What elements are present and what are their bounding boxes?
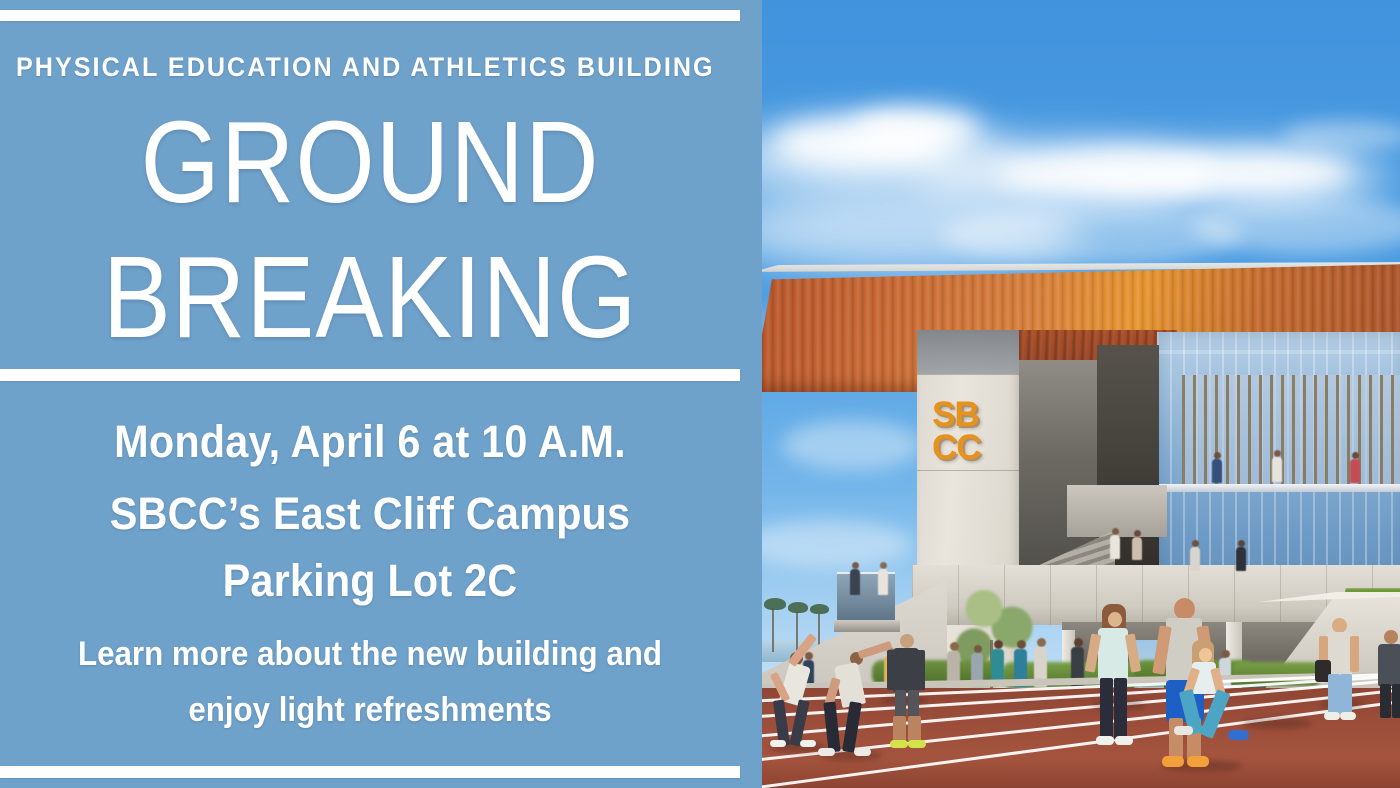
person-figure — [878, 569, 888, 595]
person-figure — [1272, 457, 1282, 482]
kicker-text: PHYSICAL EDUCATION AND ATHLETICS BUILDIN… — [16, 52, 686, 82]
person-figure — [1212, 459, 1222, 483]
person-head — [1274, 450, 1281, 457]
palm-fronds — [788, 602, 808, 613]
balcony-rail-upper — [1157, 484, 1400, 492]
person-head — [1222, 650, 1230, 658]
person-head — [1214, 452, 1221, 459]
cloud-shape — [1282, 120, 1400, 150]
headline-line-1: GROUND — [44, 104, 695, 220]
palm-fronds — [810, 604, 829, 614]
divider-middle — [0, 369, 740, 381]
person-head — [974, 645, 982, 653]
cloud-shape — [782, 420, 922, 470]
person-figure — [1132, 537, 1142, 560]
person-shadow — [1242, 718, 1312, 729]
divider-bottom — [0, 766, 740, 778]
person-head — [1238, 540, 1245, 547]
person-head — [852, 562, 859, 569]
person-head — [950, 642, 959, 651]
person-head — [1112, 528, 1119, 535]
palm-fronds — [764, 598, 786, 610]
headline-line-2: BREAKING — [44, 239, 695, 355]
person-figure — [1236, 547, 1246, 571]
person-head — [1037, 638, 1046, 647]
glass-band — [1157, 350, 1400, 354]
event-location-campus: SBCC’s East Cliff Campus — [30, 490, 711, 538]
divider-top — [0, 10, 740, 21]
person-figure — [1190, 547, 1200, 571]
subtext-line-1: Learn more about the new building and — [30, 636, 711, 672]
balcony-deck — [834, 620, 900, 632]
person-head — [880, 562, 887, 569]
sbcc-logo-text: SBCC — [932, 398, 1002, 464]
text-panel: PHYSICAL EDUCATION AND ATHLETICS BUILDIN… — [0, 0, 762, 788]
person-figure — [850, 569, 860, 595]
person-figure — [1110, 535, 1120, 559]
person-head — [1074, 638, 1083, 647]
person-figure — [1350, 459, 1360, 483]
person-head — [994, 640, 1003, 649]
cloud-shape — [942, 205, 1242, 265]
person-head — [805, 652, 813, 660]
subtext-line-2: enjoy light refreshments — [30, 692, 711, 728]
person-head — [1192, 540, 1199, 547]
person-head — [1352, 452, 1359, 459]
person-head — [1017, 640, 1026, 649]
building-rendering-photo: SBCC — [762, 0, 1400, 788]
palm-trunk — [772, 608, 774, 652]
concrete-pier-top — [917, 330, 1019, 374]
person-head — [1134, 530, 1141, 537]
cloud-shape — [852, 108, 982, 152]
cloud-shape — [1162, 152, 1352, 194]
cloud-shape — [762, 520, 912, 568]
palm-trunk — [796, 612, 798, 652]
panel-seam — [917, 374, 1019, 375]
event-date-time: Monday, April 6 at 10 A.M. — [30, 418, 711, 466]
poster-canvas: SBCC — [0, 0, 1400, 788]
panel-seam — [917, 470, 1019, 471]
event-location-lot: Parking Lot 2C — [30, 557, 711, 605]
